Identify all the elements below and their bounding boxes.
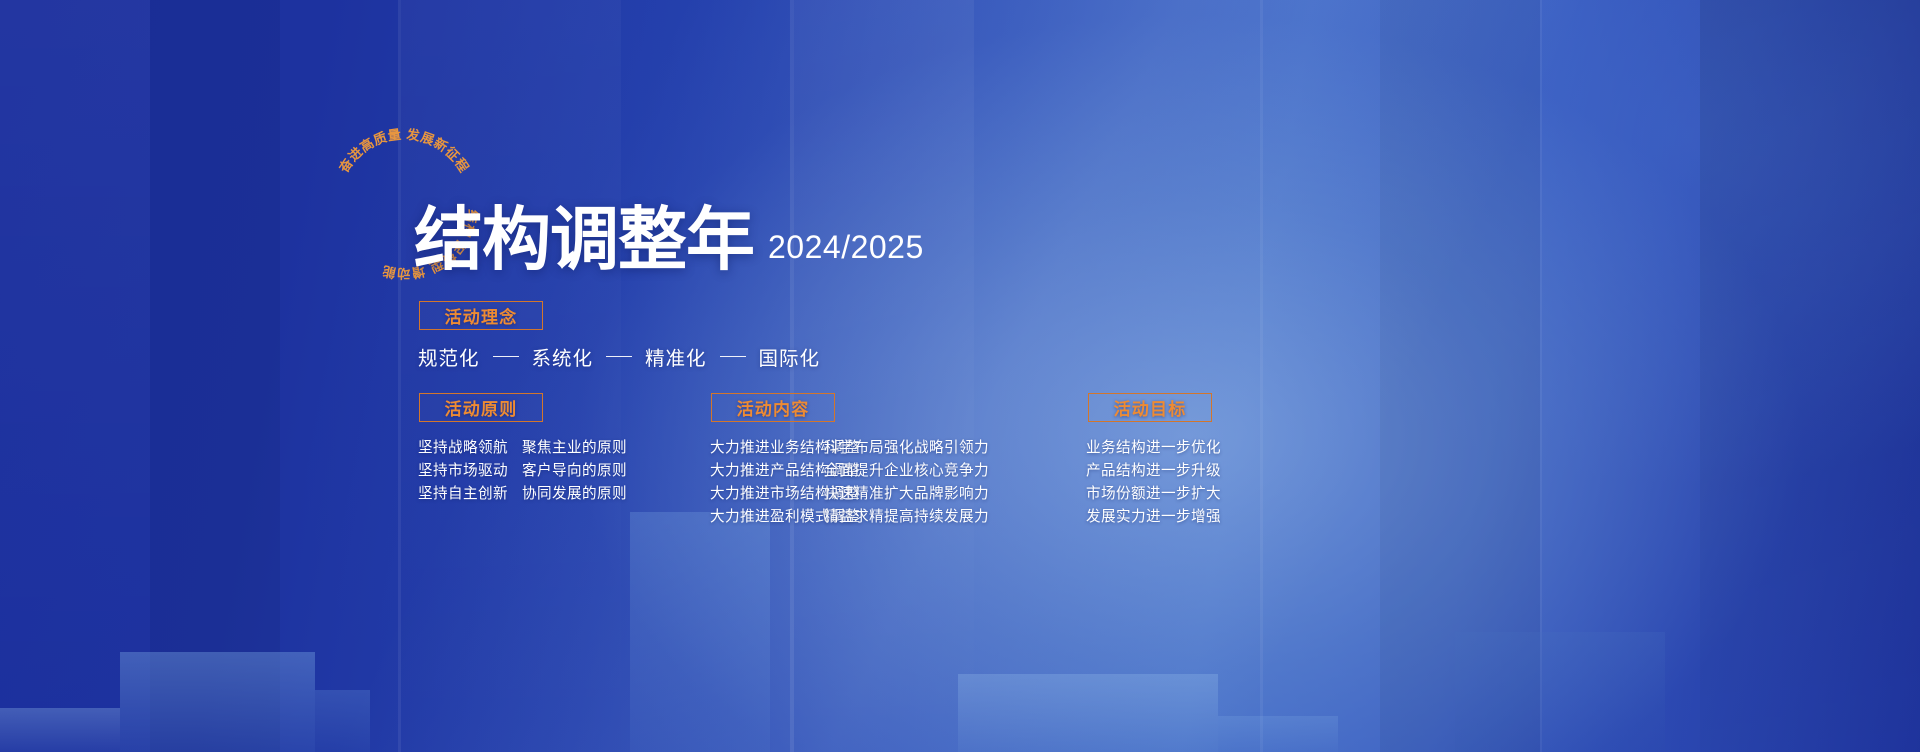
keyword-3: 国际化 bbox=[759, 342, 821, 371]
list-item: 大力推进产品结构调整 全面提升企业核心竞争力 bbox=[710, 460, 989, 483]
principle-0-b: 聚焦主业的原则 bbox=[522, 437, 627, 460]
block-7 bbox=[1455, 632, 1665, 752]
badge-goal: 活动目标 bbox=[1088, 393, 1212, 422]
content-0-b: 科学布局强化战略引领力 bbox=[824, 437, 989, 460]
block-6 bbox=[1218, 716, 1338, 752]
list-item: 市场份额进一步扩大 bbox=[1086, 483, 1221, 506]
keyword-divider-icon bbox=[493, 356, 519, 358]
list-item: 坚持市场驱动 客户导向的原则 bbox=[418, 460, 627, 483]
keyword-1: 系统化 bbox=[532, 342, 594, 371]
block-2 bbox=[0, 708, 120, 752]
content-3-a: 大力推进盈利模式调整 bbox=[710, 506, 824, 529]
page-title: 结构调整年 bbox=[414, 207, 754, 275]
block-3 bbox=[315, 690, 370, 752]
list-item: 大力推进业务结构调整 科学布局强化战略引领力 bbox=[710, 437, 989, 460]
list-item: 大力推进盈利模式调整 精益求精提高持续发展力 bbox=[710, 506, 989, 529]
content-0-a: 大力推进业务结构调整 bbox=[710, 437, 824, 460]
content-2-b: 快速精准扩大品牌影响力 bbox=[824, 483, 989, 506]
column-goals: 业务结构进一步优化 产品结构进一步升级 市场份额进一步扩大 发展实力进一步增强 bbox=[1086, 437, 1221, 529]
list-item: 坚持自主创新 协同发展的原则 bbox=[418, 483, 627, 506]
keyword-2: 精准化 bbox=[645, 342, 707, 371]
badge-principle: 活动原则 bbox=[419, 393, 543, 422]
keyword-divider-icon bbox=[720, 356, 746, 358]
content-2-a: 大力推进市场结构调整 bbox=[710, 483, 824, 506]
badge-content: 活动内容 bbox=[711, 393, 835, 422]
list-item: 大力推进市场结构调整 快速精准扩大品牌影响力 bbox=[710, 483, 989, 506]
ring-top-textpath: 奋进高质量 发展新征程 bbox=[335, 126, 472, 176]
keyword-divider-icon bbox=[606, 356, 632, 358]
list-item: 坚持战略领航 聚焦主业的原则 bbox=[418, 437, 627, 460]
content-1-b: 全面提升企业核心竞争力 bbox=[824, 460, 989, 483]
principle-1-a: 坚持市场驱动 bbox=[418, 460, 522, 483]
principle-1-b: 客户导向的原则 bbox=[522, 460, 627, 483]
goal-2: 市场份额进一步扩大 bbox=[1086, 483, 1221, 506]
goal-3: 发展实力进一步增强 bbox=[1086, 506, 1221, 529]
list-item: 业务结构进一步优化 bbox=[1086, 437, 1221, 460]
content-1-a: 大力推进产品结构调整 bbox=[710, 460, 824, 483]
banner-hero: 奋进高质量 发展新征程 调结构 促转型 增动能 结构调整年 2024/2025 … bbox=[0, 0, 1920, 752]
content-3-b: 精益求精提高持续发展力 bbox=[824, 506, 989, 529]
block-5 bbox=[958, 674, 1218, 752]
principle-0-a: 坚持战略领航 bbox=[418, 437, 522, 460]
column-principles: 坚持战略领航 聚焦主业的原则 坚持市场驱动 客户导向的原则 坚持自主创新 协同发… bbox=[418, 437, 627, 506]
list-item: 产品结构进一步升级 bbox=[1086, 460, 1221, 483]
badge-concept: 活动理念 bbox=[419, 301, 543, 330]
block-1 bbox=[120, 652, 315, 752]
list-item: 发展实力进一步增强 bbox=[1086, 506, 1221, 529]
keyword-row: 规范化 系统化 精准化 国际化 bbox=[418, 342, 820, 371]
principle-2-a: 坚持自主创新 bbox=[418, 483, 522, 506]
goal-0: 业务结构进一步优化 bbox=[1086, 437, 1221, 460]
year-label: 2024/2025 bbox=[768, 229, 924, 275]
block-4 bbox=[630, 512, 770, 752]
title-group: 结构调整年 2024/2025 bbox=[414, 207, 924, 275]
principle-2-b: 协同发展的原则 bbox=[522, 483, 627, 506]
ring-top-text: 奋进高质量 发展新征程 bbox=[335, 126, 472, 176]
column-contents: 大力推进业务结构调整 科学布局强化战略引领力 大力推进产品结构调整 全面提升企业… bbox=[710, 437, 989, 529]
keyword-0: 规范化 bbox=[418, 342, 480, 371]
goal-1: 产品结构进一步升级 bbox=[1086, 460, 1221, 483]
